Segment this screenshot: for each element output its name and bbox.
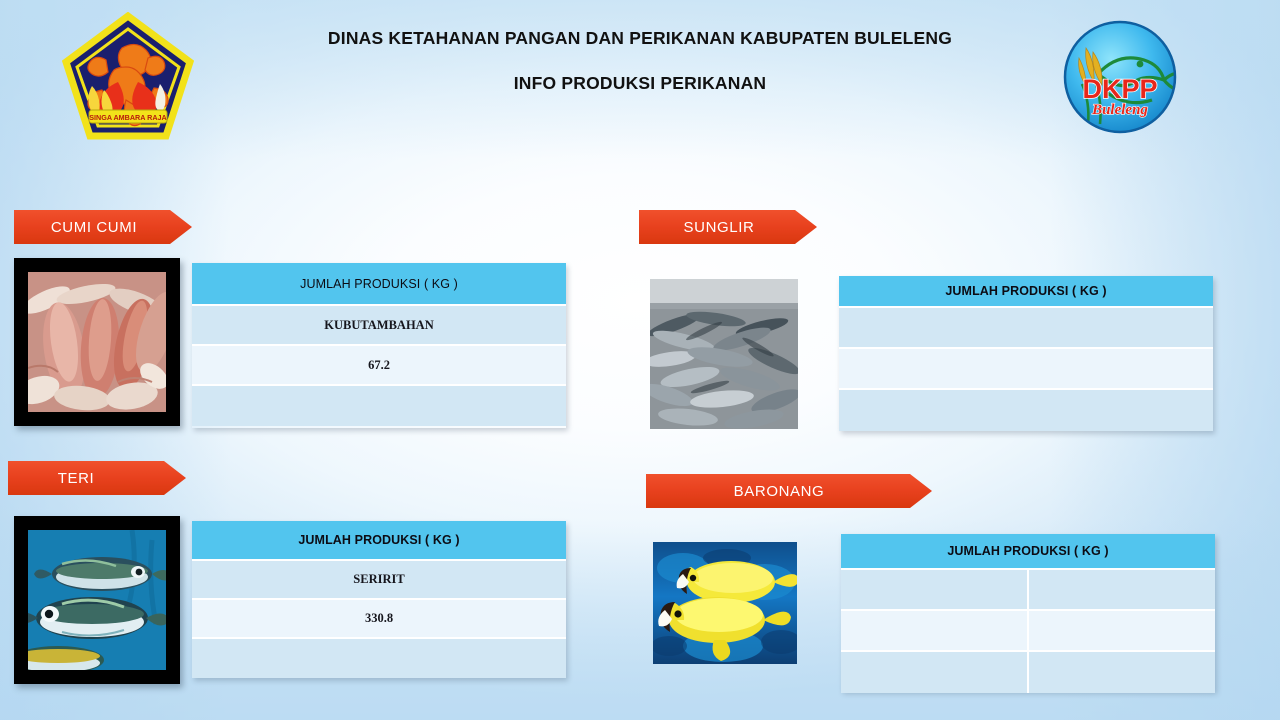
- table-row: [839, 349, 1213, 390]
- table-cell: [1027, 652, 1215, 693]
- table-row: SERIRIT: [192, 561, 566, 600]
- buleleng-regency-emblem-logo: SINGA AMBARA RAJA: [62, 12, 194, 142]
- table-cell: [192, 639, 566, 678]
- section-banner-sunglir[interactable]: SUNGLIR: [639, 210, 817, 244]
- dkpp-buleleng-logo: DKPP Buleleng: [1046, 18, 1194, 136]
- table-cell: [839, 308, 1213, 347]
- page-title: DINAS KETAHANAN PANGAN DAN PERIKANAN KAB…: [300, 28, 980, 94]
- section-banner-label-teri: TERI: [8, 470, 186, 487]
- table-sunglir: JUMLAH PRODUKSI ( KG ): [839, 276, 1213, 431]
- table-row: [841, 611, 1215, 652]
- table-cell: [192, 386, 566, 426]
- table-row: [192, 639, 566, 678]
- table-cell: 330.8: [192, 600, 566, 637]
- table-row: [839, 390, 1213, 431]
- section-banner-label-cumi-cumi: CUMI CUMI: [14, 219, 192, 236]
- section-banner-label-baronang: BARONANG: [646, 483, 932, 500]
- table-row: 67.2: [192, 346, 566, 386]
- table-row: [839, 308, 1213, 349]
- table-cell: KUBUTAMBAHAN: [192, 306, 566, 344]
- table-baronang: JUMLAH PRODUKSI ( KG ): [841, 534, 1215, 691]
- table-cell: [839, 349, 1213, 388]
- table-cell: [1027, 611, 1215, 650]
- table-cell: [841, 652, 1027, 693]
- page-title-line-1: DINAS KETAHANAN PANGAN DAN PERIKANAN KAB…: [300, 28, 980, 49]
- teri-fish-photo: [14, 516, 180, 684]
- table-header-cumi-cumi: JUMLAH PRODUKSI ( KG ): [192, 263, 566, 306]
- table-row: [841, 652, 1215, 693]
- table-cell: [1027, 570, 1215, 609]
- emblem-motto-text: SINGA AMBARA RAJA: [89, 113, 166, 122]
- table-cumi-cumi: JUMLAH PRODUKSI ( KG ) KUBUTAMBAHAN 67.2: [192, 263, 566, 428]
- table-teri: JUMLAH PRODUKSI ( KG ) SERIRIT 330.8: [192, 521, 566, 678]
- section-banner-cumi-cumi[interactable]: CUMI CUMI: [14, 210, 192, 244]
- table-cell: [841, 570, 1027, 609]
- table-cell: 67.2: [192, 346, 566, 384]
- table-row: 330.8: [192, 600, 566, 639]
- table-row: [841, 570, 1215, 611]
- table-header-teri: JUMLAH PRODUKSI ( KG ): [192, 521, 566, 561]
- section-banner-baronang[interactable]: BARONANG: [646, 474, 932, 508]
- table-cell: [841, 611, 1027, 650]
- table-cell: [839, 390, 1213, 431]
- sunglir-fish-pile-photo: [650, 279, 798, 429]
- table-row: KUBUTAMBAHAN: [192, 306, 566, 346]
- table-header-baronang: JUMLAH PRODUKSI ( KG ): [841, 534, 1215, 570]
- section-banner-teri[interactable]: TERI: [8, 461, 186, 495]
- table-row: [192, 386, 566, 426]
- table-header-sunglir: JUMLAH PRODUKSI ( KG ): [839, 276, 1213, 308]
- baronang-rabbitfish-photo: [653, 542, 797, 664]
- table-cell: SERIRIT: [192, 561, 566, 598]
- squid-photo: [14, 258, 180, 426]
- buleleng-wordmark: Buleleng: [1091, 102, 1148, 118]
- page-title-line-2: INFO PRODUKSI PERIKANAN: [300, 73, 980, 94]
- dkpp-wordmark: DKPP: [1082, 74, 1157, 104]
- section-banner-label-sunglir: SUNGLIR: [639, 219, 817, 236]
